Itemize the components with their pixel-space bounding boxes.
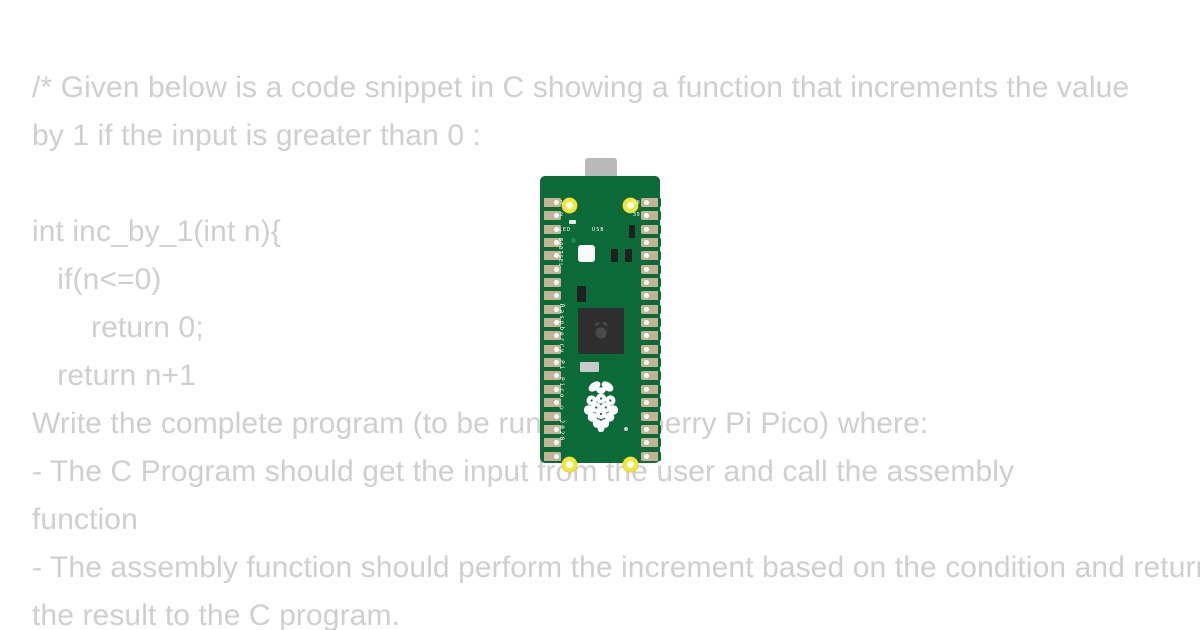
silkscreen-pin-2-label: 2 (560, 213, 564, 218)
question-line-1: /* Given below is a code snippet in C sh… (32, 64, 1200, 112)
mounting-hole-top-left (562, 198, 577, 213)
raspberry-pi-pico-image: 1 2 39 40 LED USB BOOTSEL Raspberry Pi P… (540, 158, 660, 463)
pin-pad (541, 225, 561, 234)
pin-pad (641, 425, 661, 434)
smd-component (577, 286, 586, 302)
raspberry-pi-logo-icon (581, 379, 621, 432)
mounting-hole-bottom-left (562, 457, 577, 472)
smd-component (629, 225, 635, 238)
pin-pad (641, 305, 661, 314)
silkscreen-pin-1-label: 1 (560, 201, 564, 206)
smd-component (625, 249, 632, 262)
pin-pad (541, 291, 561, 300)
pin-pad (541, 198, 561, 207)
pin-pad (641, 412, 661, 421)
pin-pad (641, 385, 661, 394)
instruction-line-bullet-2: - The assembly function should perform t… (32, 544, 1200, 592)
silkscreen-pin-39-label: 39 (633, 213, 640, 218)
silkscreen-pin-40-label: 40 (633, 201, 640, 206)
silkscreen-bootsel-label: BOOTSEL (557, 238, 562, 267)
rp2040-chip (578, 308, 624, 354)
mounting-hole-bottom-right (623, 457, 638, 472)
pin-pad (641, 211, 661, 220)
pin-pad (641, 345, 661, 354)
pin-pad (641, 251, 661, 260)
screenshot-canvas: /* Given below is a code snippet in C sh… (0, 0, 1200, 630)
pin-pad (641, 371, 661, 380)
pin-pad (541, 211, 561, 220)
silkscreen-brand-text: Raspberry Pi Pico © 2020 (558, 304, 564, 442)
silkscreen-led-label: LED (559, 228, 571, 233)
bootsel-button (578, 245, 595, 262)
pin-pad (641, 225, 661, 234)
pin-pad (541, 278, 561, 287)
pin-pad (641, 331, 661, 340)
question-line-2: by 1 if the input is greater than 0 : (32, 112, 1200, 160)
pcb-substrate: 1 2 39 40 LED USB BOOTSEL Raspberry Pi P… (540, 176, 660, 463)
pin-header-right (641, 198, 659, 465)
pin-pad (641, 358, 661, 367)
pin-pad (641, 398, 661, 407)
pin-pad (641, 278, 661, 287)
pin-pad (641, 452, 661, 461)
pin-pad (641, 265, 661, 274)
pin-pad (641, 438, 661, 447)
silkscreen-usb-label: USB (592, 228, 605, 233)
instruction-line-bullet-1-cont: function (32, 496, 1200, 544)
pin-pad (541, 452, 561, 461)
pin-pad (641, 238, 661, 247)
onboard-led (569, 220, 576, 224)
instruction-line-bullet-2-cont: the result to the C program. (32, 592, 1200, 630)
crystal-oscillator (580, 362, 599, 372)
pin-pad (641, 318, 661, 327)
test-point (571, 238, 576, 243)
pcb-via (624, 427, 628, 431)
pin-pad (641, 291, 661, 300)
pin-pad (641, 198, 661, 207)
smd-component (611, 249, 618, 262)
